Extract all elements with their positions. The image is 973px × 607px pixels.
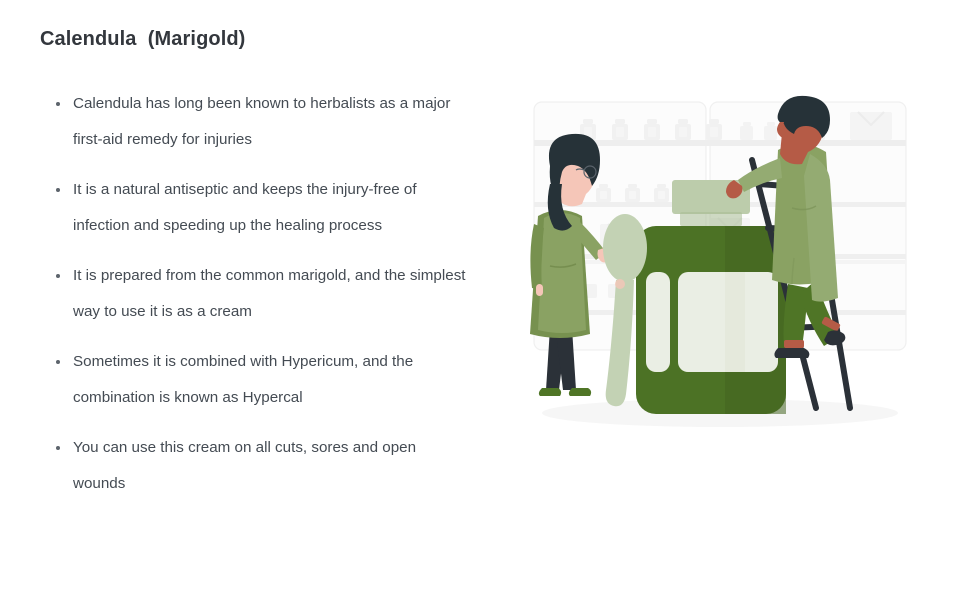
bullet-dot-icon bbox=[56, 446, 60, 450]
page-title: Calendula (Marigold) bbox=[40, 28, 245, 51]
pharmacy-shelves-illustration bbox=[520, 88, 920, 438]
list-item: Sometimes it is combined with Hypericum,… bbox=[52, 344, 472, 416]
list-item: It is a natural antiseptic and keeps the… bbox=[52, 172, 472, 244]
list-item-text: It is a natural antiseptic and keeps the… bbox=[73, 172, 472, 244]
slide-root: Calendula (Marigold) Calendula has long … bbox=[0, 0, 973, 607]
bullet-dot-icon bbox=[56, 360, 60, 364]
list-item-text: It is prepared from the common marigold,… bbox=[73, 258, 472, 330]
list-item-text: Sometimes it is combined with Hypericum,… bbox=[73, 344, 472, 416]
list-item-text: Calendula has long been known to herbali… bbox=[73, 86, 472, 158]
bullet-dot-icon bbox=[56, 188, 60, 192]
bullet-list: Calendula has long been known to herbali… bbox=[52, 86, 472, 502]
list-item-text: You can use this cream on all cuts, sore… bbox=[73, 430, 472, 502]
list-item: You can use this cream on all cuts, sore… bbox=[52, 430, 472, 502]
list-item: Calendula has long been known to herbali… bbox=[52, 86, 472, 158]
list-item: It is prepared from the common marigold,… bbox=[52, 258, 472, 330]
bullet-dot-icon bbox=[56, 102, 60, 106]
bullet-dot-icon bbox=[56, 274, 60, 278]
